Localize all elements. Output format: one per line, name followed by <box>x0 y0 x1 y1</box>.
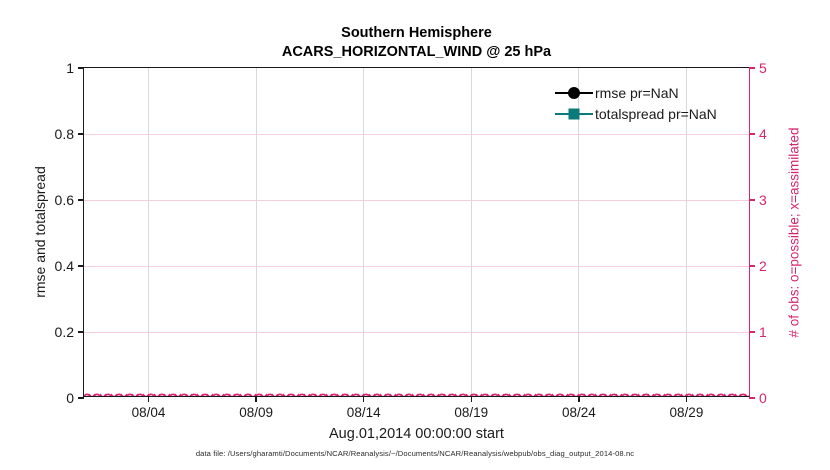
legend-item-label: rmse pr=NaN <box>595 85 679 101</box>
y-axis-right-tick-label: 0 <box>759 390 767 406</box>
obs-marker-row <box>84 391 749 396</box>
x-axis-tick-label: 08/09 <box>239 405 273 420</box>
data-file-caption: data file: /Users/gharamti/Documents/NCA… <box>0 449 830 458</box>
x-axis-tick <box>471 396 472 402</box>
y-axis-right-tick-label: 1 <box>759 324 767 340</box>
y-axis-left-tick-label: 0.4 <box>55 258 74 274</box>
x-axis-tick-label: 08/04 <box>132 405 166 420</box>
y-axis-right-tick-label: 3 <box>759 192 767 208</box>
y-axis-right-tick <box>749 397 755 398</box>
x-axis-tick <box>148 396 149 402</box>
x-axis-tick <box>255 396 256 402</box>
y-axis-right-tick-label: 5 <box>759 60 767 76</box>
obs-assimilated-marker <box>744 391 749 396</box>
y-axis-left-title: rmse and totalspread <box>30 67 50 397</box>
y-axis-right-tick <box>749 67 755 68</box>
y-axis-left-tick <box>78 67 84 68</box>
y-axis-left-title-text: rmse and totalspread <box>32 166 48 298</box>
legend-circle-icon <box>568 87 580 99</box>
y-axis-right-tick-label: 4 <box>759 126 767 142</box>
legend-square-icon <box>569 109 580 120</box>
x-axis-title: Aug.01,2014 00:00:00 start <box>83 426 750 442</box>
y-axis-right-title-text: # of obs: o=possible; x=assimilated <box>787 127 802 337</box>
y-axis-left-tick-label: 0.8 <box>55 126 74 142</box>
y-axis-left-tick <box>78 331 84 332</box>
y-axis-left-tick-label: 0 <box>66 390 74 406</box>
square-marker <box>553 105 595 123</box>
x-axis-tick-label: 08/29 <box>670 405 704 420</box>
plot-area: 000.210.420.630.841508/0408/0908/1408/19… <box>83 67 750 397</box>
chart-title-line1: Southern Hemisphere <box>83 24 750 43</box>
x-axis-tick-label: 08/19 <box>454 405 488 420</box>
y-axis-right-tick <box>749 265 755 266</box>
y-axis-left-tick-label: 0.2 <box>55 324 74 340</box>
chart-figure: Southern Hemisphere ACARS_HORIZONTAL_WIN… <box>0 0 830 470</box>
y-axis-left-tick <box>78 133 84 134</box>
x-axis-tick <box>578 396 579 402</box>
y-axis-right-tick <box>749 133 755 134</box>
y-axis-left-tick <box>78 199 84 200</box>
x-axis-tick <box>686 396 687 402</box>
y-axis-right-title: # of obs: o=possible; x=assimilated <box>784 67 804 397</box>
legend-item[interactable]: rmse pr=NaN <box>553 83 743 103</box>
chart-title: Southern Hemisphere ACARS_HORIZONTAL_WIN… <box>83 24 750 62</box>
y-axis-left-tick-label: 0.6 <box>55 192 74 208</box>
legend-item[interactable]: totalspread pr=NaN <box>553 104 743 124</box>
chart-legend: rmse pr=NaNtotalspread pr=NaN <box>553 81 743 127</box>
circle-marker <box>553 84 595 102</box>
y-axis-left-tick <box>78 265 84 266</box>
x-axis-tick <box>363 396 364 402</box>
y-axis-left-tick-label: 1 <box>66 60 74 76</box>
y-axis-right-tick-label: 2 <box>759 258 767 274</box>
x-axis-tick-label: 08/14 <box>347 405 381 420</box>
y-axis-left-tick <box>78 397 84 398</box>
y-axis-right-tick <box>749 331 755 332</box>
legend-item-label: totalspread pr=NaN <box>595 106 717 122</box>
x-axis-tick-label: 08/24 <box>562 405 596 420</box>
y-axis-right-tick <box>749 199 755 200</box>
chart-title-line2: ACARS_HORIZONTAL_WIND @ 25 hPa <box>83 43 750 62</box>
